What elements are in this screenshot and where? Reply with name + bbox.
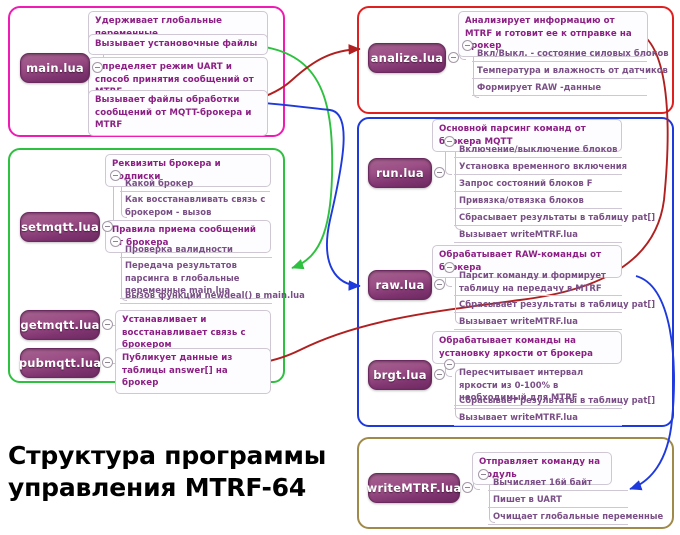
node-getmqtt-lua[interactable]: getmqtt.lua [20,310,100,340]
node-main-lua[interactable]: main.lua [20,53,90,83]
leaf-brgt-1: Сбрасывает результаты в таблицу pat[] [454,393,622,409]
toggle-raw[interactable] [434,279,445,290]
toggle-brgt[interactable] [434,369,445,380]
leaf-run-4: Сбрасывает результаты в таблицу pat[] [454,210,622,226]
leaf-write-1: Пишет в UART [488,492,628,508]
headline-pubmqtt: Публикует данные из таблицы answer[] на … [115,348,271,394]
leaf-analize-2: Формирует RAW -данные [472,80,647,96]
headline-brgt: Обрабатывает команды на установку яркост… [432,331,622,364]
page-title: Структура программы управления MTRF-64 [8,440,348,504]
leaf-write-0: Вычисляет 16й байт [488,475,628,491]
page-title-line2: управления MTRF-64 [8,472,348,504]
leaf-run-3: Привязка/отвязка блоков [454,193,622,209]
toggle-pubmqtt[interactable] [102,357,113,368]
leaf-brgt-2: Вызывает writeMTRF.lua [454,410,622,426]
leaf-raw-0: Парсит команду и формирует таблицу на пе… [454,268,622,296]
toggle-write[interactable] [462,482,473,493]
node-setmqtt-lua[interactable]: setmqtt.lua [20,212,100,242]
toggle-write-sub[interactable] [478,469,489,480]
toggle-run-sub[interactable] [444,136,455,147]
node-pubmqtt-lua[interactable]: pubmqtt.lua [20,348,100,378]
leaf-setmqtt-1-0: Какой брокер [120,176,270,192]
toggle-brgt-sub[interactable] [444,359,455,370]
node-writemtrf-lua[interactable]: writeMTRF.lua [368,473,460,503]
toggle-setmqtt-1[interactable] [110,170,121,181]
leaf-raw-2: Вызывает writeMTRF.lua [454,314,622,330]
leaf-analize-0: Вкл/Выкл. - состояние силовых блоков [472,46,647,62]
leaf-analize-1: Температура и влажность от датчиков [472,63,647,79]
node-brgt-lua[interactable]: brgt.lua [368,360,432,390]
page-title-line1: Структура программы [8,440,348,472]
toggle-run[interactable] [434,167,445,178]
leaf-raw-1: Сбрасывает результаты в таблицу pat[] [454,297,622,313]
leaf-run-0: Включение/выключение блоков [454,142,622,158]
headline-main-3: Вызывает файлы обработки сообщений от MQ… [88,90,268,136]
toggle-analize[interactable] [448,52,459,63]
toggle-setmqtt-2[interactable] [110,236,121,247]
headline-main-1: Вызывает установочные файлы [88,34,268,55]
diagram-canvas: main.lua Удерживает глобальные переменны… [0,0,680,535]
leaf-setmqtt-2-0: Проверка валидности [120,242,272,258]
leaf-setmqtt-2-2: Вызов функции newdeal() в main.lua [120,288,272,304]
leaf-run-2: Запрос состояний блоков F [454,176,622,192]
node-run-lua[interactable]: run.lua [368,158,432,188]
leaf-run-1: Установка временного включения [454,159,622,175]
toggle-getmqtt[interactable] [102,319,113,330]
leaf-run-5: Вызывает writeMTRF.lua [454,227,622,243]
toggle-setmqtt[interactable] [102,221,113,232]
node-raw-lua[interactable]: raw.lua [368,270,432,300]
toggle-analize-sub[interactable] [462,40,473,51]
toggle-main[interactable] [92,62,103,73]
node-analize-lua[interactable]: analize.lua [368,43,446,73]
toggle-raw-sub[interactable] [444,262,455,273]
leaf-write-2: Очищает глобальные переменные [488,509,628,525]
